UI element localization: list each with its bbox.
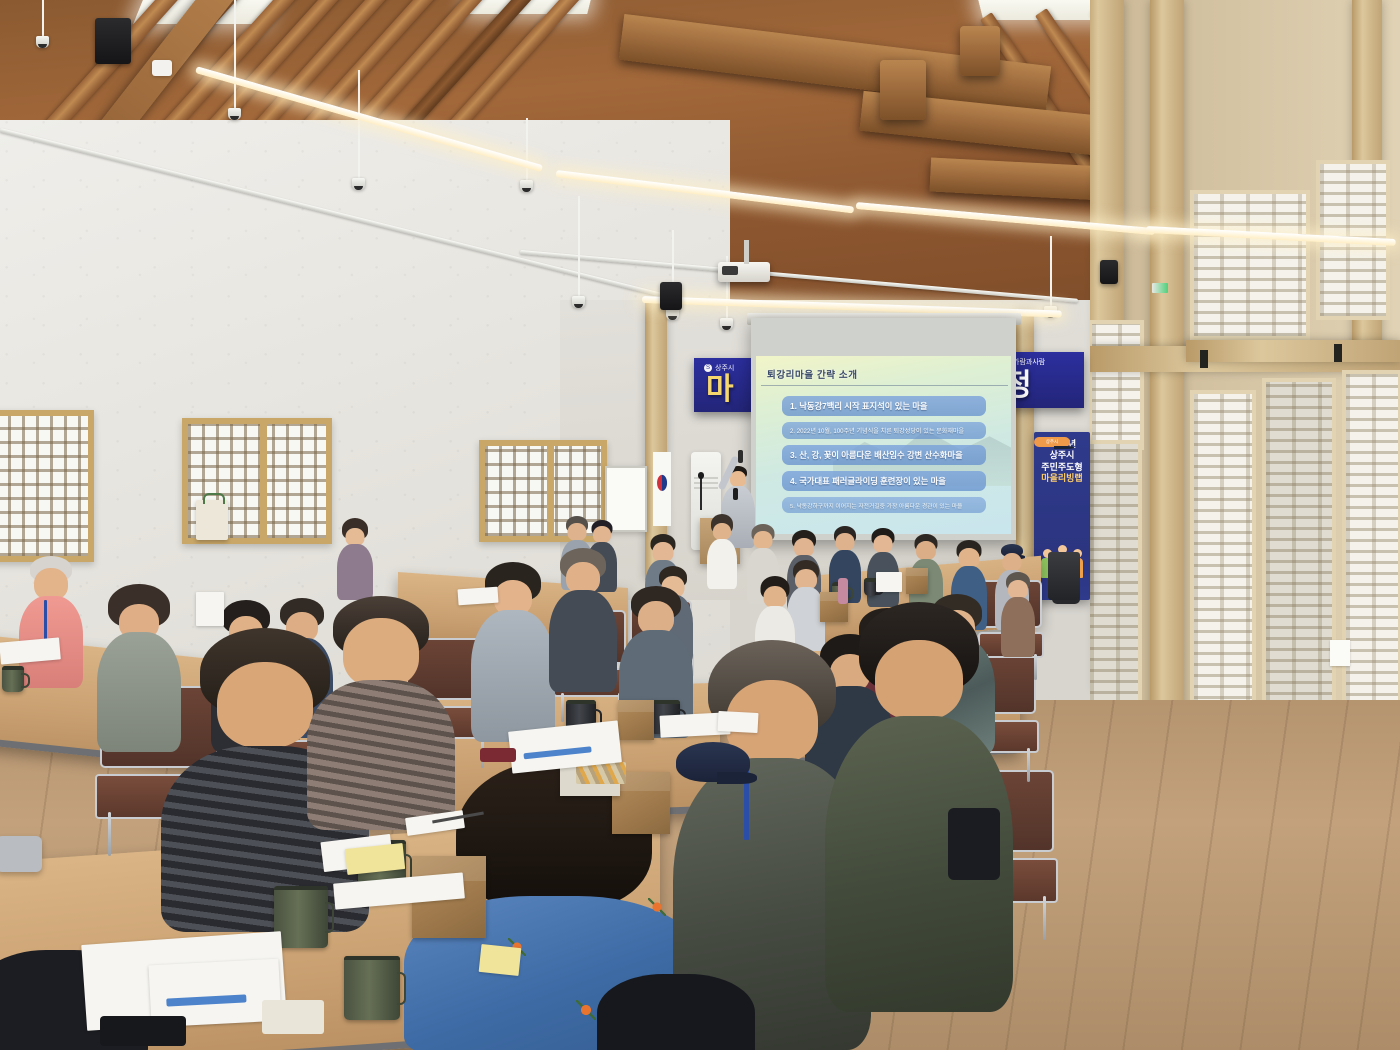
- rollup-line-3: 주민주도형: [1034, 462, 1090, 473]
- snack-box: [618, 700, 654, 740]
- mug: [344, 956, 400, 1020]
- lattice-window: [0, 410, 94, 562]
- slide-bullet-5: 5. 낙동강하구까지 이어지는 자전거길중 가장 아름다운 경관이 있는 마을: [782, 497, 986, 513]
- notepad: [479, 944, 522, 976]
- microphone-stand: [700, 476, 702, 510]
- light-rod: [234, 0, 236, 108]
- handout: [196, 592, 224, 626]
- water-bottle: [838, 578, 848, 604]
- rollup-line-4: 마을리빙랩: [1034, 473, 1090, 484]
- wifi-access-point: [152, 60, 172, 76]
- light-rod: [578, 196, 580, 296]
- spotlight-icon: [228, 108, 241, 120]
- slide-title: 퇴강리마을 간략 소개: [767, 367, 858, 381]
- slide-bullet-1: 1. 낙동강7백리 시작 표지석이 있는 마을: [782, 396, 986, 416]
- projector-mount: [744, 240, 749, 264]
- presentation-slide: 퇴강리마을 간략 소개 1. 낙동강7백리 시작 표지석이 있는 마을 2. 2…: [756, 356, 1011, 534]
- tote-bag: [196, 500, 228, 540]
- light-rod: [42, 0, 44, 36]
- laser-pointer: [738, 450, 743, 463]
- baseball-cap: [676, 742, 750, 782]
- attendee: [336, 518, 374, 598]
- slide-bullet-3: 3. 산, 강, 꽃이 아름다운 배산임수 강변 산수화마을: [782, 445, 986, 465]
- attendee-foreground: [824, 602, 1014, 1012]
- jacket-embroidery: [576, 1000, 596, 1020]
- rollup-line-2: 상주시: [1034, 450, 1090, 461]
- ceiling-projector: [718, 262, 770, 282]
- handout: [876, 572, 902, 592]
- jacket-embroidery: [648, 898, 666, 916]
- korean-flag: [653, 452, 671, 526]
- exit-sign-icon: [1152, 283, 1168, 293]
- spotlight-icon: [720, 318, 733, 330]
- phone: [100, 1016, 186, 1046]
- light-rod: [358, 70, 360, 178]
- slide-bullet-4: 4. 국가대표 패러글라이딩 훈련장이 있는 마을: [782, 471, 986, 491]
- transom-panel: [1090, 320, 1144, 450]
- mug: [274, 886, 328, 948]
- attendee-foreground: [596, 962, 756, 1050]
- attendee: [548, 548, 618, 692]
- attendee-foreground: [306, 596, 456, 826]
- handout: [718, 711, 759, 733]
- handout: [457, 587, 498, 606]
- spotlight-icon: [572, 296, 585, 308]
- light-rod: [1050, 236, 1052, 306]
- slide-bullet-2: 2. 2022년 10월, 100주년 기념식을 치른 퇴강성당이 있는 문화재…: [782, 422, 986, 439]
- wall-speaker: [95, 18, 131, 64]
- equipment-case: [1048, 552, 1080, 600]
- attendee: [706, 514, 738, 588]
- photo-scene: S 상주시 마 @ 가람과사람 정 퇴강리마을 간략 소개 1. 낙동강7백리 …: [0, 0, 1400, 1050]
- wall-speaker: [660, 282, 682, 310]
- wallet: [480, 748, 516, 762]
- transom-panel: [1190, 190, 1310, 340]
- banner-left: S 상주시 마: [694, 358, 756, 412]
- wall-speaker: [1100, 260, 1118, 284]
- spotlight-icon: [352, 178, 365, 190]
- spotlight-icon: [520, 180, 533, 192]
- banner-left-big-text: 마: [706, 364, 736, 408]
- door-label-sticker: [1330, 640, 1350, 666]
- snack-box: [906, 568, 928, 594]
- bag-on-floor: [948, 808, 1000, 880]
- light-rod: [526, 118, 528, 180]
- rollup-cap-label: 상주시: [1034, 437, 1070, 447]
- snack-wrapper: [262, 1000, 324, 1034]
- spotlight-icon: [36, 36, 49, 48]
- handheld-microphone[interactable]: [733, 488, 738, 500]
- mug: [2, 666, 24, 692]
- rolling-stool[interactable]: [0, 836, 42, 872]
- attendee: [18, 556, 84, 686]
